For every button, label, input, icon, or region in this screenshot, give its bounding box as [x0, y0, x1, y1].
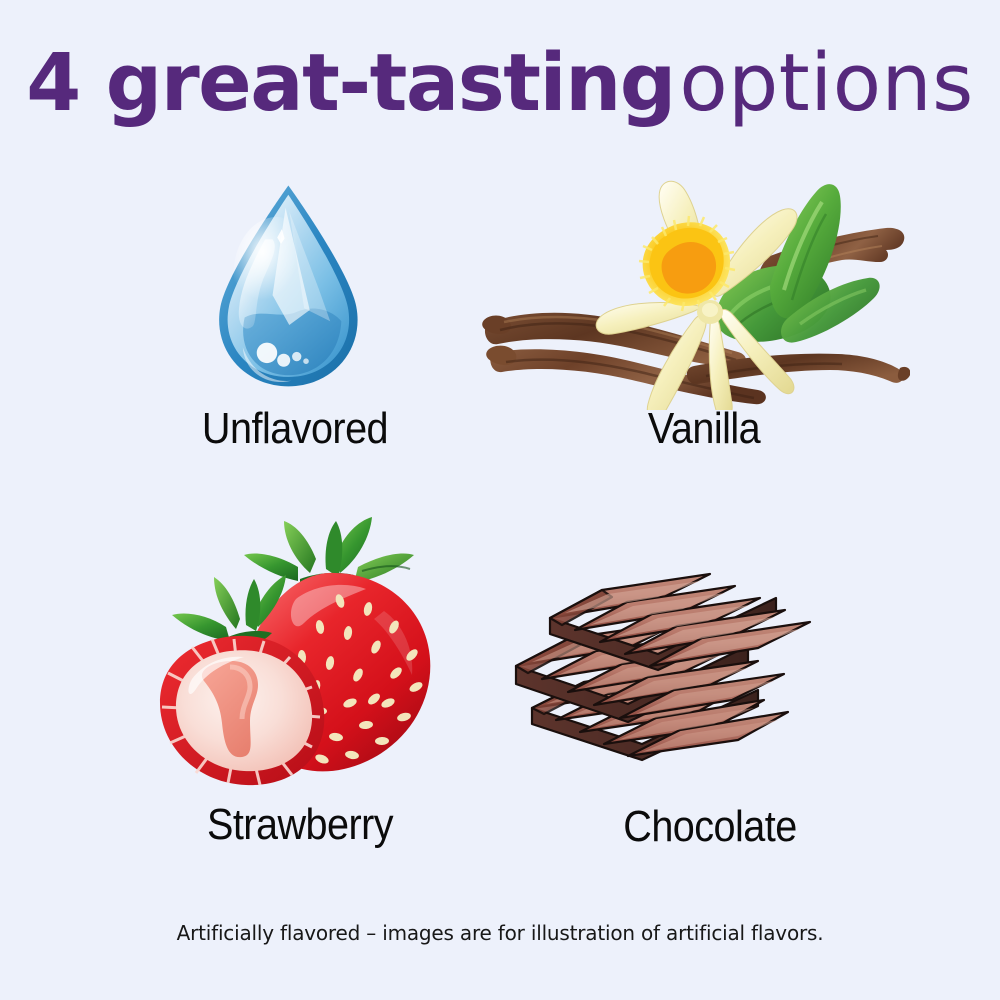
flavor-card-strawberry: Strawberry: [130, 515, 470, 875]
product-flavors-infographic: 4 great-tasting options: [0, 0, 1000, 1000]
flavor-card-chocolate: Chocolate: [510, 560, 910, 870]
strawberry-icon: [130, 515, 470, 795]
flavor-label-vanilla: Vanilla: [493, 407, 916, 451]
disclaimer-text: Artificially flavored – images are for i…: [0, 921, 1000, 945]
flavor-label-chocolate: Chocolate: [530, 805, 890, 849]
flavor-card-vanilla: Vanilla: [470, 170, 940, 470]
water-droplet-icon: [135, 170, 455, 410]
flavor-label-unflavored: Unflavored: [151, 407, 439, 451]
page-title-secondary: options: [679, 37, 973, 129]
chocolate-bars-icon: [510, 560, 910, 780]
page-title: 4 great-tasting options: [0, 44, 1000, 123]
flavor-card-unflavored: Unflavored: [135, 170, 455, 470]
page-title-emphasis: 4 great-tasting: [26, 37, 675, 129]
flavor-label-strawberry: Strawberry: [147, 803, 453, 847]
vanilla-icon: [470, 170, 910, 410]
